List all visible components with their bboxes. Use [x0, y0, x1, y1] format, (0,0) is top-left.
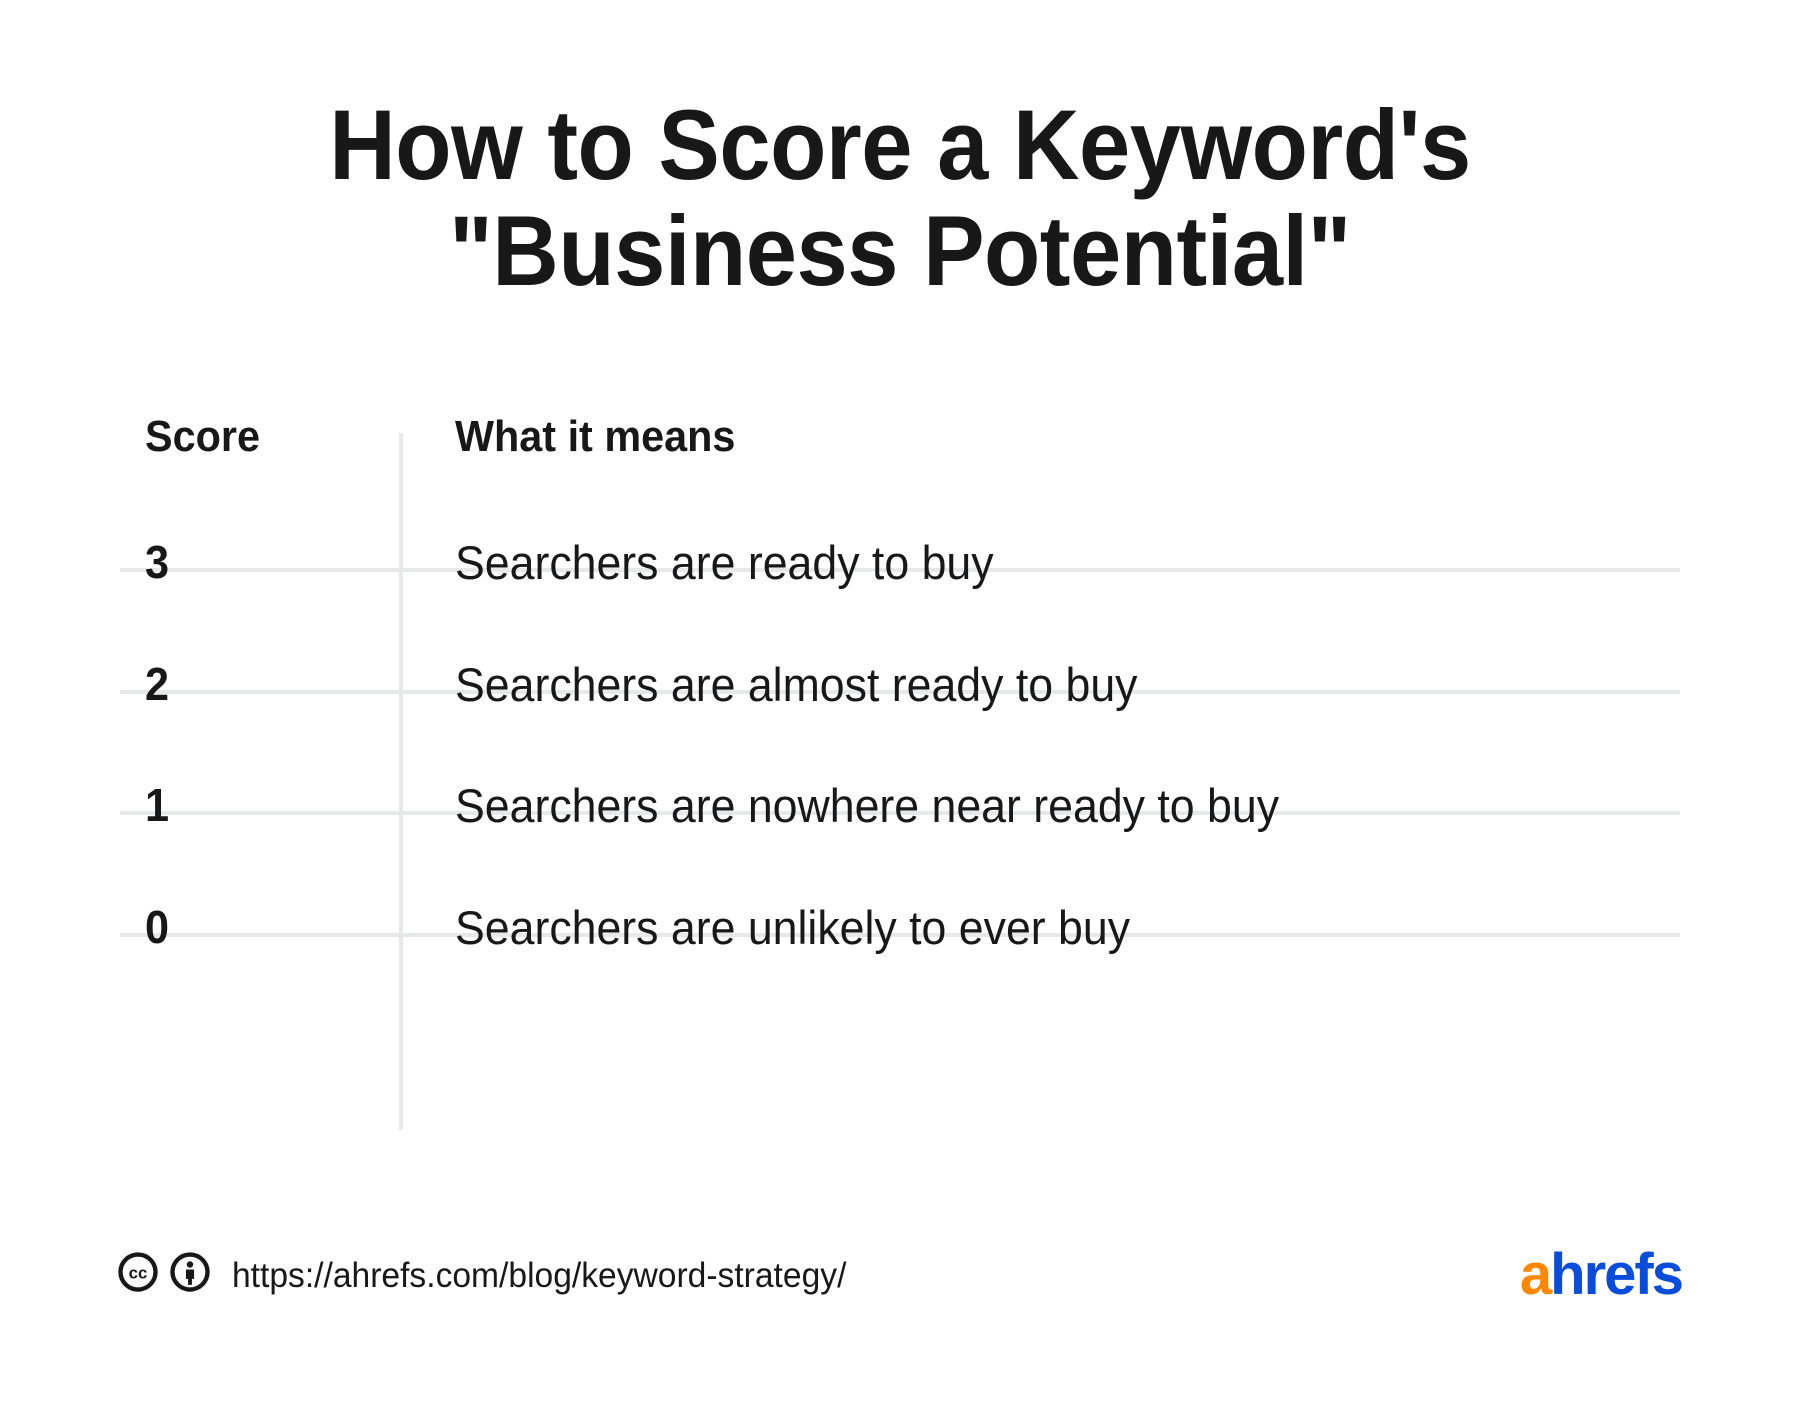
footer: cc https://ahrefs.com/blog/keyword-strat…: [0, 1250, 1800, 1320]
table-row: 2: [145, 657, 169, 711]
license-badges: cc: [118, 1252, 210, 1292]
source-url[interactable]: https://ahrefs.com/blog/keyword-strategy…: [232, 1256, 846, 1296]
table-row: Searchers are nowhere near ready to buy: [455, 778, 1279, 833]
table-row: 3: [145, 535, 169, 589]
table-row: Searchers are ready to buy: [455, 535, 994, 590]
creative-commons-cc-icon: cc: [118, 1252, 158, 1292]
table-row: 1: [145, 778, 169, 832]
table-row: 0: [145, 900, 169, 954]
logo-accent-letter: a: [1520, 1242, 1550, 1307]
table-header-score: Score: [145, 412, 260, 462]
logo-wordmark: hrefs: [1550, 1242, 1682, 1307]
score-table: Score What it means 3 Searchers are read…: [0, 0, 1800, 1408]
ahrefs-logo[interactable]: ahrefs: [1520, 1246, 1682, 1304]
table-header-meaning: What it means: [455, 412, 735, 462]
creative-commons-by-icon: [170, 1252, 210, 1292]
table-row: Searchers are almost ready to buy: [455, 657, 1137, 712]
table-row: Searchers are unlikely to ever buy: [455, 900, 1130, 955]
svg-text:cc: cc: [129, 1263, 148, 1282]
